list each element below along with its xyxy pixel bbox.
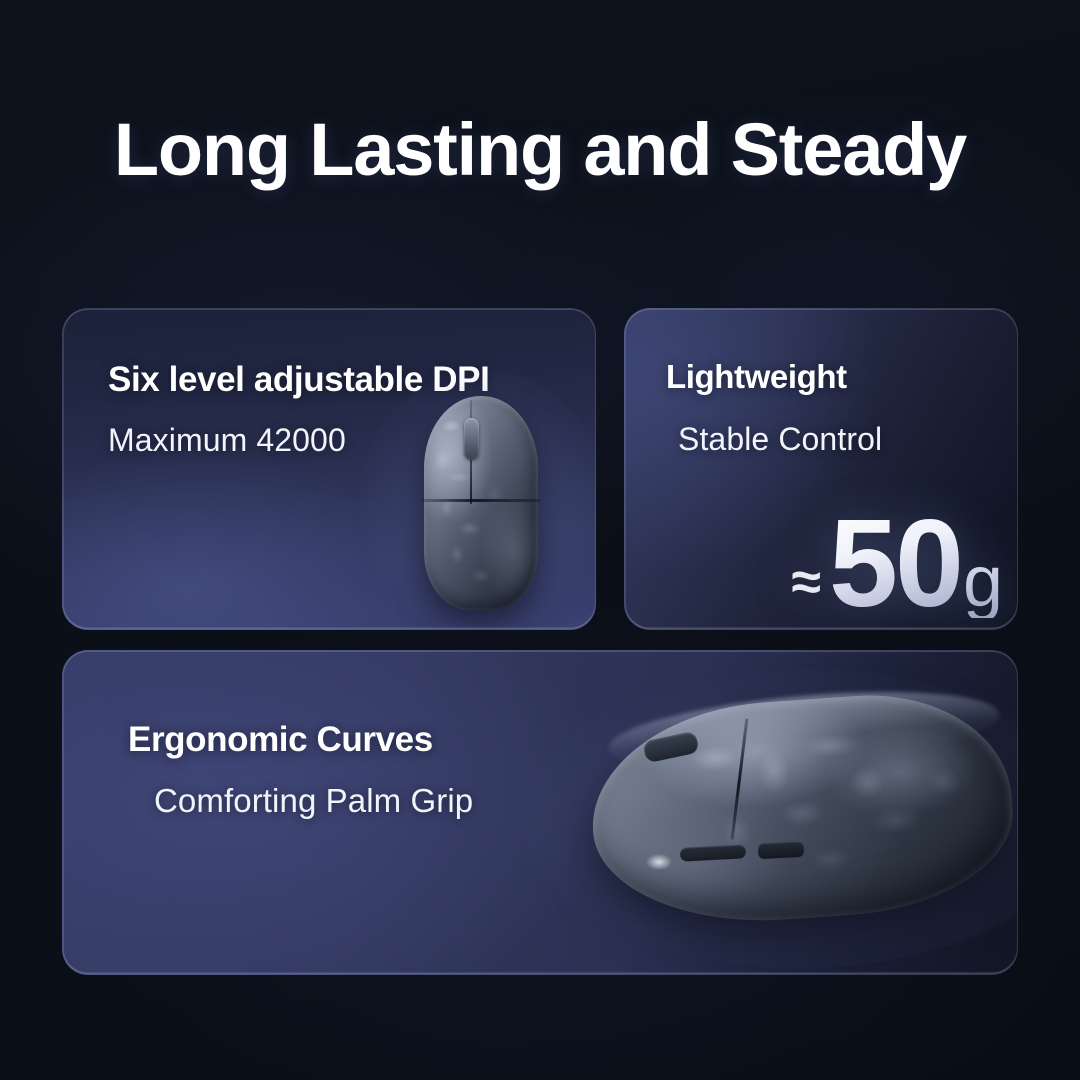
mouse-perspective-view-image xyxy=(562,678,1018,958)
mouse-scroll-wheel xyxy=(464,418,479,460)
feature-card-dpi: Six level adjustable DPI Maximum 42000 xyxy=(62,308,596,630)
card-title-ergonomic: Ergonomic Curves xyxy=(128,720,433,760)
mouse-brand-logo xyxy=(646,854,672,870)
weight-value: 50 xyxy=(829,502,961,626)
weight-metric: ≈ 50 g xyxy=(791,502,1002,626)
card-subtitle-ergonomic: Comforting Palm Grip xyxy=(154,782,473,820)
product-feature-page: Long Lasting and Steady Six level adjust… xyxy=(0,0,1080,1080)
mouse-button-split-horizontal xyxy=(422,499,540,502)
mouse-shell xyxy=(424,396,538,610)
mouse-top-view-image xyxy=(414,396,546,618)
mouse-texture-pattern xyxy=(424,396,538,610)
card-subtitle-lightweight: Stable Control xyxy=(678,421,882,458)
weight-unit: g xyxy=(963,546,1002,618)
page-title: Long Lasting and Steady xyxy=(0,108,1080,192)
card-title-lightweight: Lightweight xyxy=(666,358,847,396)
card-subtitle-dpi: Maximum 42000 xyxy=(108,422,346,459)
approximately-icon: ≈ xyxy=(791,555,821,609)
feature-card-lightweight: Lightweight Stable Control ≈ 50 g xyxy=(624,308,1018,630)
feature-card-ergonomic: Ergonomic Curves Comforting Palm Grip xyxy=(62,650,1018,975)
mouse-side-button-forward xyxy=(758,841,805,859)
